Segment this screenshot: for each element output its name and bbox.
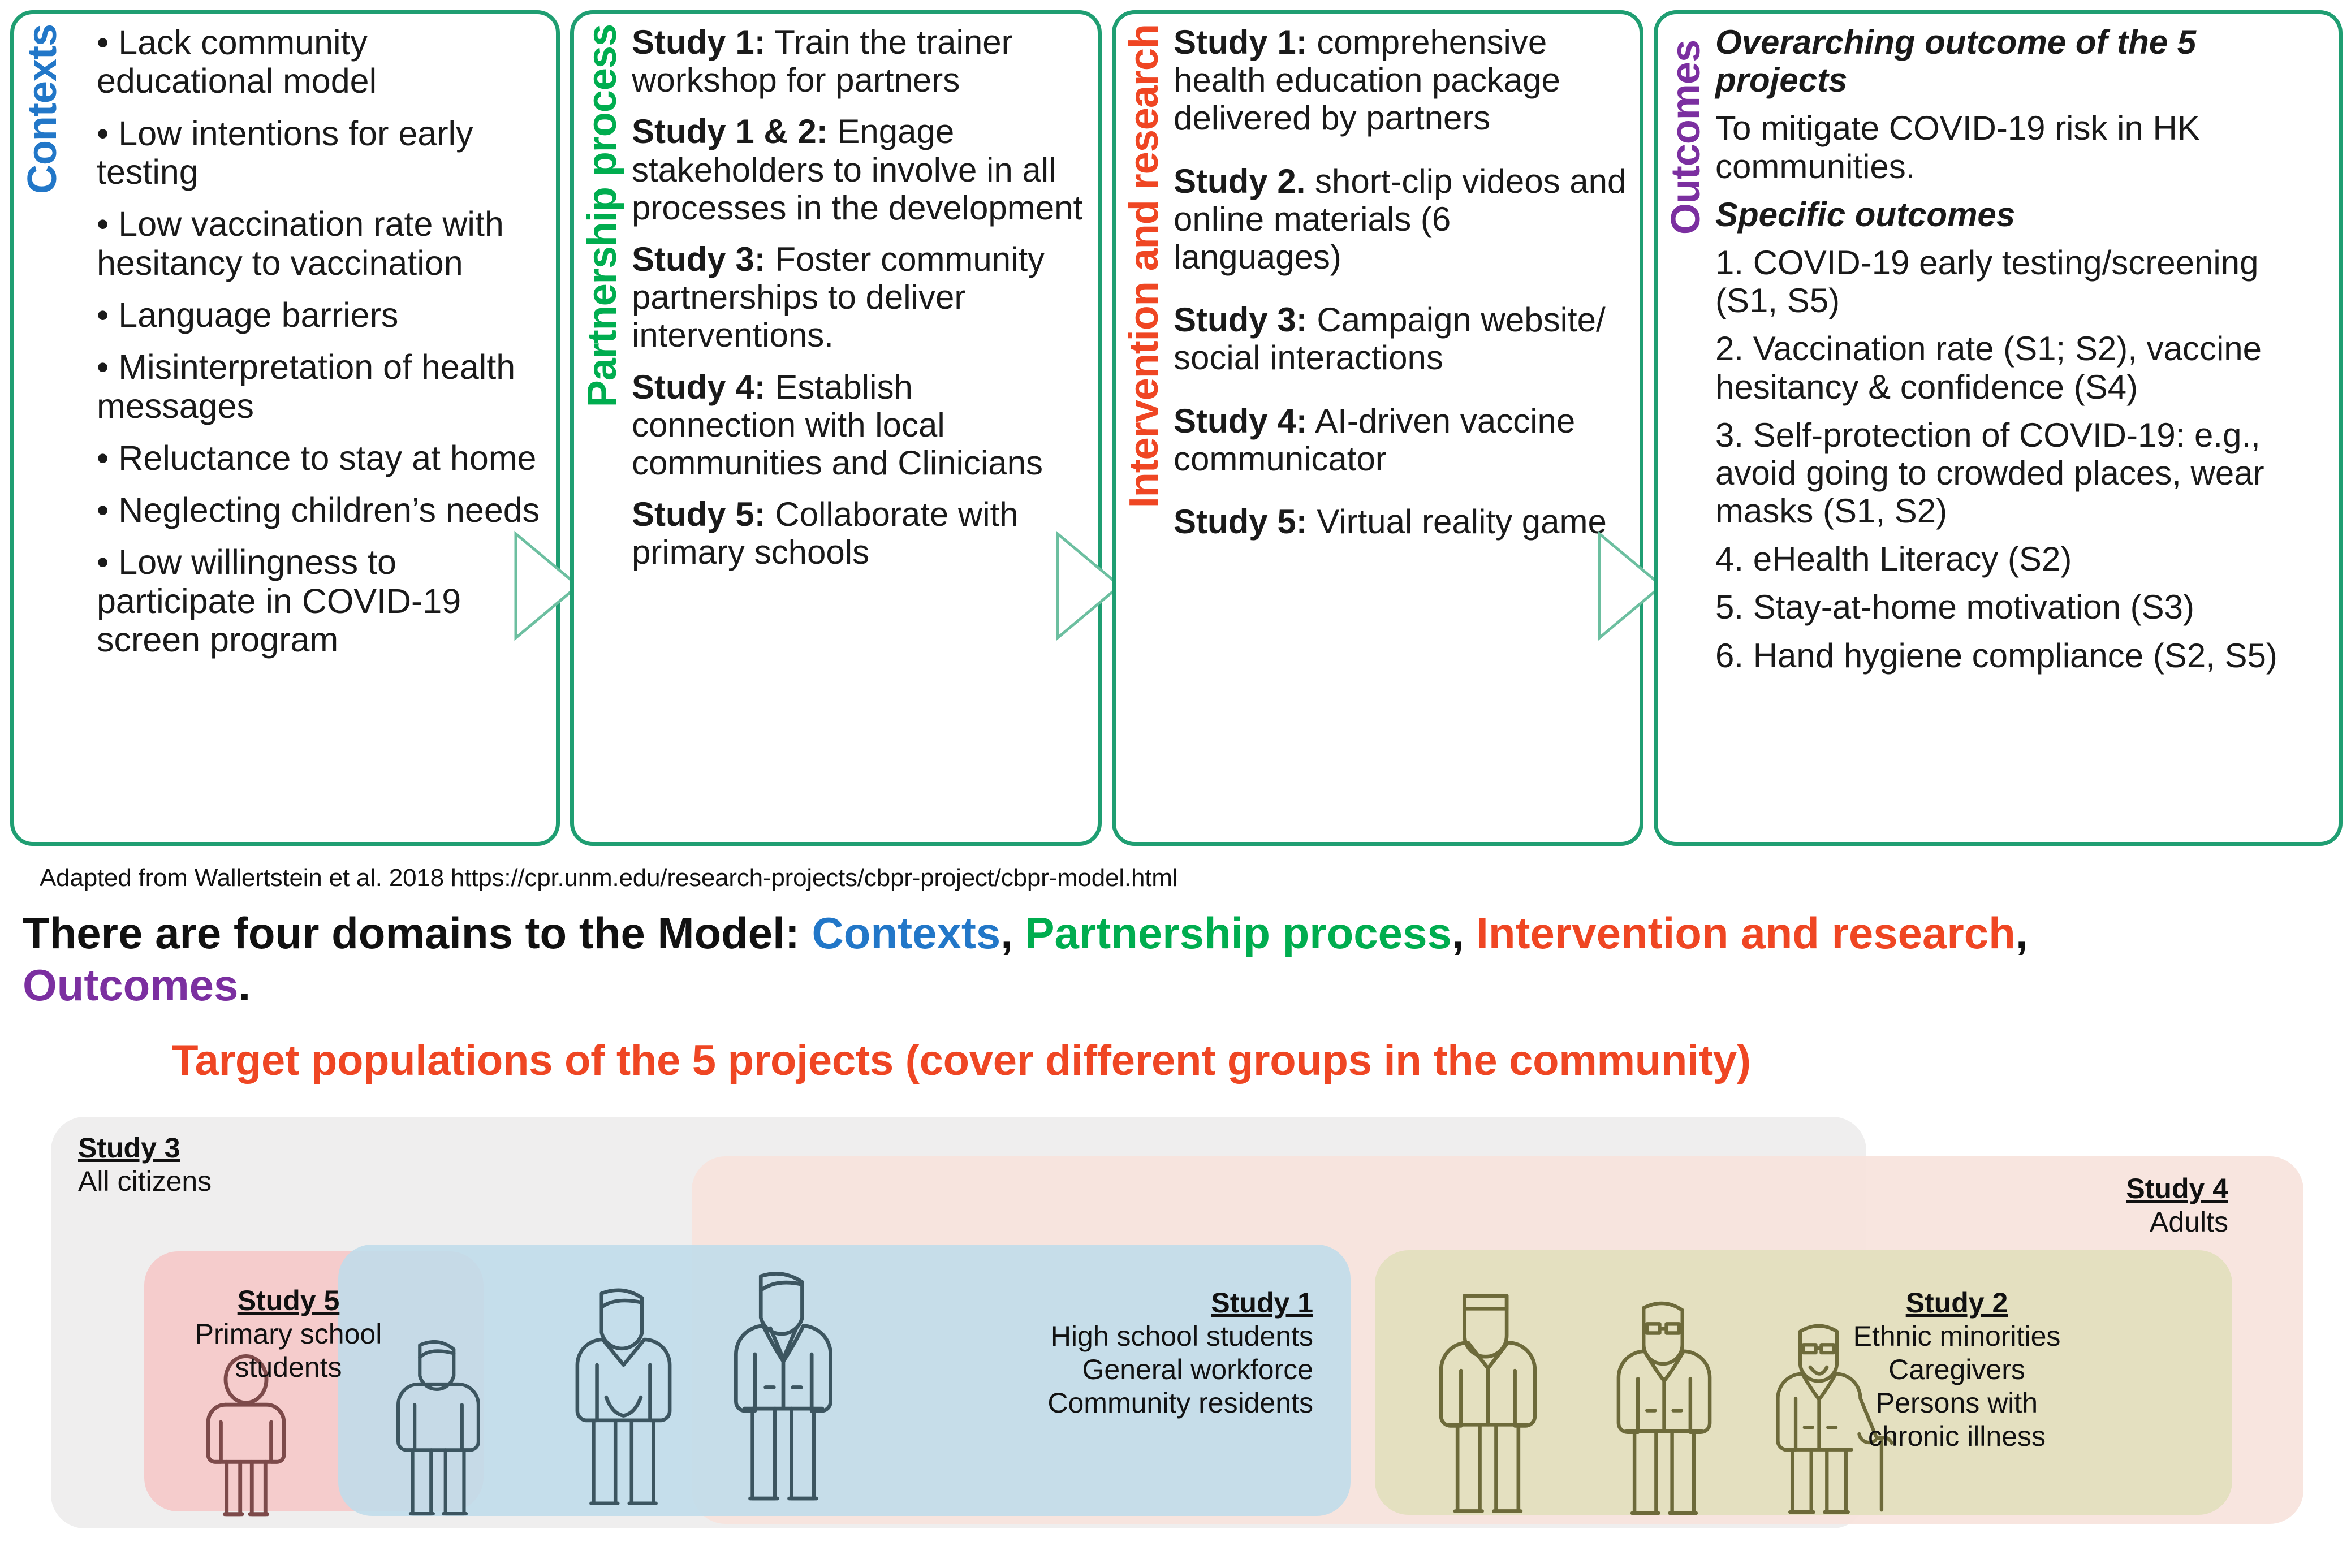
entry-label: Study 3: bbox=[632, 240, 766, 278]
outcome-item: 1. COVID-19 early testing/screening (S1,… bbox=[1715, 244, 2323, 319]
context-item: • Low willingness to participate in COVI… bbox=[77, 543, 543, 659]
partnership-entry: Study 3: Foster community partnerships t… bbox=[632, 240, 1085, 355]
entry-label: Study 4: bbox=[632, 368, 766, 406]
group-line: Caregivers bbox=[1685, 1353, 2228, 1386]
panel-partnership-process: Partnership process Study 1: Train the t… bbox=[570, 10, 1102, 846]
target-populations-band: Study 3 All citizens Study 5 Primary sch… bbox=[51, 1117, 2302, 1535]
entry-label: Study 5: bbox=[1174, 503, 1308, 541]
panel-outcomes-title: Outcomes bbox=[1666, 40, 1706, 235]
partnership-entry: Study 1: Train the trainer workshop for … bbox=[632, 23, 1085, 99]
group-line: All citizens bbox=[78, 1165, 212, 1198]
entry-label: Study 1: bbox=[632, 23, 766, 61]
overarching-heading: Overarching outcome of the 5 projects bbox=[1715, 23, 2323, 99]
overarching-text: To mitigate COVID-19 risk in HK communit… bbox=[1715, 109, 2323, 185]
domains-sep: , bbox=[1452, 908, 1476, 958]
person-icon-adult-cap bbox=[1423, 1286, 1553, 1521]
target-populations-heading: Target populations of the 5 projects (co… bbox=[0, 1036, 1923, 1085]
group-line: General workforce bbox=[748, 1353, 1313, 1386]
domain-partnership: Partnership process bbox=[1025, 908, 1452, 958]
intervention-entry: Study 2. short-clip videos and online ma… bbox=[1174, 162, 1627, 277]
domains-period: . bbox=[238, 960, 251, 1010]
intervention-entry: Study 1: comprehensive health education … bbox=[1174, 23, 1627, 137]
context-item: • Reluctance to stay at home bbox=[77, 439, 543, 477]
group-title: Study 3 bbox=[78, 1131, 212, 1165]
panel-outcomes: Outcomes Overarching outcome of the 5 pr… bbox=[1654, 10, 2343, 846]
group-title: Study 4 bbox=[1702, 1172, 2228, 1206]
panel-outcomes-body: Overarching outcome of the 5 projects To… bbox=[1706, 14, 2339, 690]
group-line: chronic illness bbox=[1685, 1420, 2228, 1453]
entry-text: Virtual reality game bbox=[1308, 503, 1607, 541]
outcome-item: 3. Self-protection of COVID-19: e.g., av… bbox=[1715, 416, 2323, 530]
context-item: • Language barriers bbox=[77, 296, 543, 334]
group-line: Persons with bbox=[1685, 1386, 2228, 1420]
person-icon-adult-vneck bbox=[560, 1284, 687, 1513]
context-item: • Lack community educational model bbox=[77, 23, 543, 101]
group-label-study3: Study 3 All citizens bbox=[78, 1131, 212, 1198]
domains-lead: There are four domains to the Model: bbox=[23, 908, 812, 958]
partnership-entry: Study 4: Establish connection with local… bbox=[632, 368, 1085, 482]
group-line: High school students bbox=[748, 1320, 1313, 1353]
panel-intervention-and-research: Intervention and research Study 1: compr… bbox=[1112, 10, 1643, 846]
cbpr-model-row: Contexts • Lack community educational mo… bbox=[0, 5, 2351, 853]
context-item: • Low vaccination rate with hesitancy to… bbox=[77, 205, 543, 282]
outcome-item: 5. Stay-at-home motivation (S3) bbox=[1715, 588, 2323, 626]
group-title: Study 5 bbox=[156, 1284, 421, 1318]
entry-label: Study 3: bbox=[1174, 301, 1308, 339]
domains-sep: , bbox=[1000, 908, 1025, 958]
domains-summary-line: There are four domains to the Model: Con… bbox=[23, 907, 2257, 1011]
context-item: • Low intentions for early testing bbox=[77, 114, 543, 192]
panel-intervention-body: Study 1: comprehensive health education … bbox=[1164, 14, 1640, 571]
group-label-study2: Study 2 Ethnic minorities Caregivers Per… bbox=[1685, 1286, 2228, 1453]
group-line: students bbox=[156, 1351, 421, 1384]
domain-outcomes: Outcomes bbox=[23, 960, 238, 1010]
domains-sep: , bbox=[2016, 908, 2028, 958]
panel-intervention-title: Intervention and research bbox=[1124, 24, 1164, 508]
entry-label: Study 1 & 2: bbox=[632, 113, 828, 150]
panel-contexts-body: • Lack community educational model • Low… bbox=[63, 14, 556, 664]
context-item: • Misinterpretation of health messages bbox=[77, 348, 543, 425]
outcome-item: 4. eHealth Literacy (S2) bbox=[1715, 540, 2323, 578]
group-line: Ethnic minorities bbox=[1685, 1320, 2228, 1353]
outcome-item: 6. Hand hygiene compliance (S2, S5) bbox=[1715, 637, 2323, 675]
panel-contexts: Contexts • Lack community educational mo… bbox=[10, 10, 560, 846]
group-line: Primary school bbox=[156, 1318, 421, 1351]
partnership-entry: Study 5: Collaborate with primary school… bbox=[632, 495, 1085, 571]
group-line: Community residents bbox=[748, 1386, 1313, 1420]
group-line: Adults bbox=[1702, 1206, 2228, 1239]
panel-contexts-title: Contexts bbox=[22, 24, 63, 194]
partnership-entry: Study 1 & 2: Engage stakeholders to invo… bbox=[632, 113, 1085, 227]
domain-intervention: Intervention and research bbox=[1476, 908, 2016, 958]
intervention-entry: Study 3: Campaign website/ social intera… bbox=[1174, 301, 1627, 377]
group-title: Study 1 bbox=[748, 1286, 1313, 1320]
context-item: • Neglecting children’s needs bbox=[77, 491, 543, 529]
intervention-entry: Study 4: AI-driven vaccine communicator bbox=[1174, 402, 1627, 478]
domain-contexts: Contexts bbox=[812, 908, 1000, 958]
entry-label: Study 5: bbox=[632, 495, 766, 533]
group-label-study1: Study 1 High school students General wor… bbox=[748, 1286, 1313, 1420]
specific-heading: Specific outcomes bbox=[1715, 196, 2323, 234]
entry-label: Study 2. bbox=[1174, 162, 1305, 200]
intervention-entry: Study 5: Virtual reality game bbox=[1174, 503, 1627, 541]
group-label-study5: Study 5 Primary school students bbox=[156, 1284, 421, 1384]
entry-label: Study 1: bbox=[1174, 23, 1308, 61]
group-title: Study 2 bbox=[1685, 1286, 2228, 1320]
panel-partnership-title: Partnership process bbox=[582, 24, 623, 407]
panel-partnership-body: Study 1: Train the trainer workshop for … bbox=[623, 14, 1098, 577]
citation-text: Adapted from Wallertstein et al. 2018 ht… bbox=[40, 864, 1736, 892]
outcome-item: 2. Vaccination rate (S1; S2), vaccine he… bbox=[1715, 330, 2323, 405]
group-label-study4: Study 4 Adults bbox=[1702, 1172, 2228, 1239]
entry-label: Study 4: bbox=[1174, 402, 1308, 440]
